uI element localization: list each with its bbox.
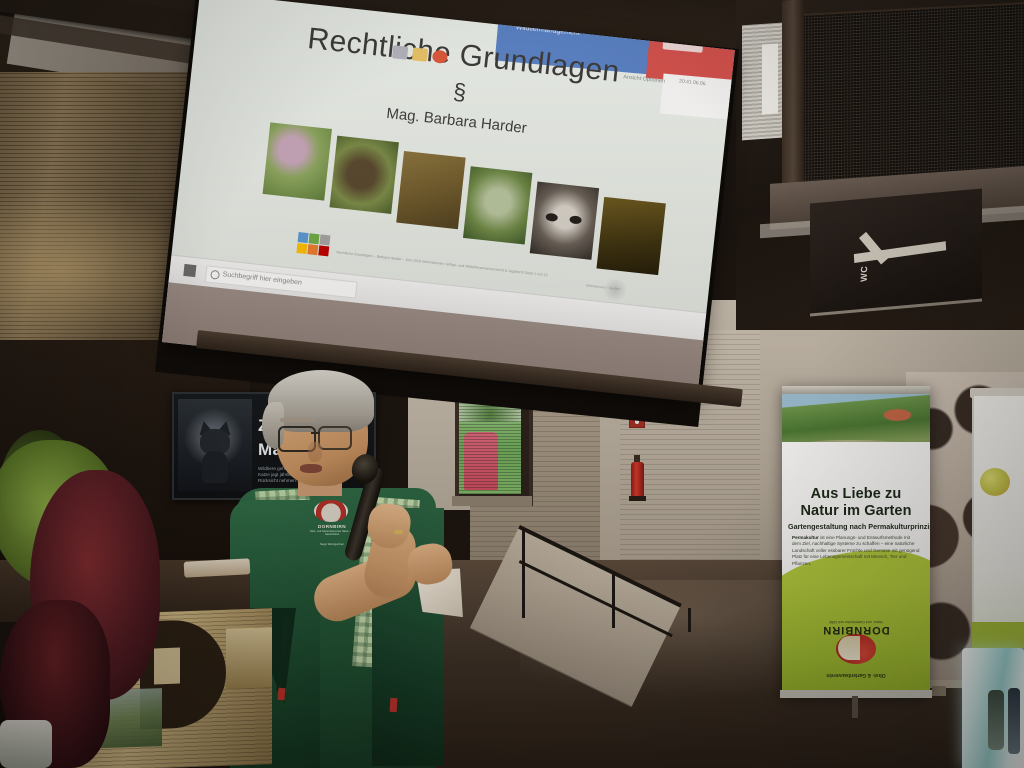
vest-logo-apple-icon: [314, 500, 348, 522]
taskbar-search-placeholder: Suchbegriff hier eingeben: [222, 271, 302, 287]
slide-logo: [296, 232, 332, 260]
logo-square-red: [318, 245, 329, 256]
nose: [308, 442, 322, 462]
honeycomb-banner-foot: [932, 686, 946, 696]
handrail-post: [612, 572, 615, 628]
logo-square-grey: [319, 234, 330, 245]
panel-right-strip: [226, 627, 272, 689]
rollup-banner-foot: [852, 696, 858, 718]
start-button-icon[interactable]: [183, 264, 196, 277]
wc-direction-sign: WC: [810, 188, 982, 316]
logo-square-blue: [298, 232, 309, 243]
slide-photo-raccoon: [530, 182, 599, 260]
handrail-post: [522, 528, 525, 618]
rollup-banner: Aus Liebe zu Natur im Garten Gartengesta…: [782, 386, 930, 696]
fire-extinguisher: [631, 462, 644, 498]
rollup-logo-arc-text: Obst- & Gartenbauverein: [808, 662, 904, 678]
white-banner-green-band: [972, 622, 1024, 648]
structural-post: [782, 0, 804, 201]
letter-d-counter: [154, 648, 180, 685]
logo-square-green: [309, 233, 320, 244]
foreground-white-object: [0, 720, 52, 768]
vest-zipper-pull: [277, 688, 285, 701]
rollup-body-text: Permakultur ist eine Planungs- und Entwu…: [792, 535, 920, 567]
vest-logo-name: DORNBIRN: [308, 524, 356, 529]
photo-scene: WC Wildtiermanagement Rechtliche Grundla…: [0, 0, 1024, 768]
glasses-lens-right: [318, 426, 352, 450]
wc-label: WC: [859, 266, 870, 283]
rollup-headline-line2: Natur im Garten: [800, 503, 911, 519]
handrail-post: [688, 608, 691, 632]
file-explorer-icon[interactable]: [412, 47, 428, 62]
task-view-icon[interactable]: [392, 45, 408, 60]
fire-extinguisher-bracket: [629, 496, 646, 501]
slide-photo-flowering-plant: [263, 122, 332, 200]
display-figure-2: [1008, 688, 1020, 754]
logo-square-yellow: [296, 243, 307, 254]
white-banner-apple-icon: [980, 468, 1010, 496]
rollup-logo-name: DORNBIRN: [808, 624, 904, 636]
rollup-headline: Aus Liebe zu Natur im Garten: [782, 486, 930, 520]
slide-photo-small-mammal: [330, 136, 399, 214]
upper-window-bright: [762, 43, 778, 114]
raccoon-eye: [545, 213, 558, 222]
white-banner: [972, 396, 1024, 648]
ring: [394, 530, 403, 534]
rollup-logo: Obst- & Gartenbauverein DORNBIRN Natur- …: [808, 618, 904, 678]
rollup-subhead: Gartengestaltung nach Permakulturprinzip…: [788, 522, 924, 531]
slide-photo-yellow-flowers: [596, 197, 665, 275]
rollup-top-rail: [782, 386, 930, 394]
rollup-logo-apple-slice-icon: [838, 636, 860, 660]
slide-photo-wild-plant: [463, 166, 532, 244]
mouth: [300, 464, 322, 473]
display-figure: [988, 690, 1004, 750]
slide-photo-dry-grass: [396, 151, 465, 229]
eyebrow: [280, 418, 316, 422]
rollup-logo-tagline: Natur- und Gartenkultur seit 1888: [808, 620, 904, 624]
glasses-bridge: [311, 432, 320, 434]
vest-zipper-pull: [390, 698, 398, 712]
raccoon-eye: [569, 215, 582, 224]
rollup-headline-line1: Aus Liebe zu: [811, 486, 902, 502]
logo-square-orange: [307, 244, 318, 255]
search-icon: [210, 270, 220, 280]
